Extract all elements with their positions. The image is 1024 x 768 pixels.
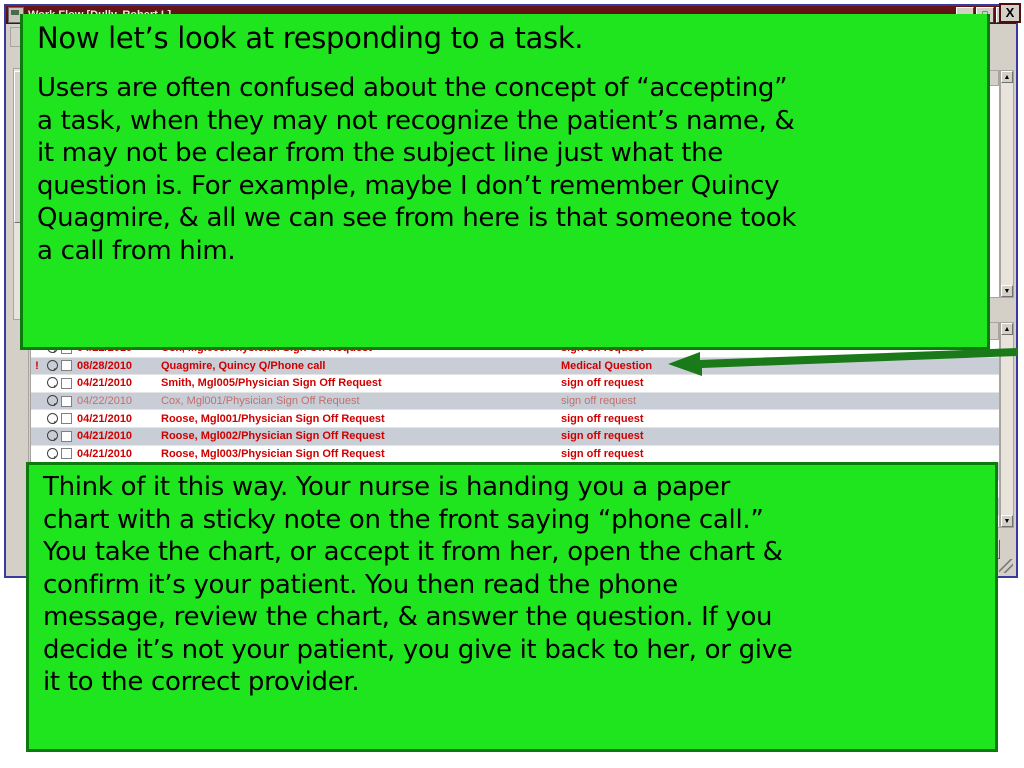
task-scroll-up-arrow-icon[interactable]: ▲	[1001, 323, 1013, 335]
task-subject: Roose, Mgl001/Physician Sign Off Request	[161, 413, 561, 425]
task-description: sign off request	[561, 377, 999, 389]
annotation-box-top: Now let’s look at responding to a task. …	[20, 14, 990, 350]
annotation-bottom-line-1: Think of it this way. Your nurse is hand…	[43, 471, 981, 504]
window-resize-grip[interactable]	[999, 559, 1013, 573]
annotation-top-line-5: Quagmire, & all we can see from here is …	[37, 202, 973, 235]
annotation-top-line-3: it may not be clear from the subject lin…	[37, 137, 973, 170]
row-checkbox[interactable]	[61, 448, 77, 459]
pointer-arrow	[660, 344, 1020, 378]
pending-clock-icon	[43, 430, 61, 442]
table-row[interactable]: 04/21/2010 Roose, Mgl002/Physician Sign …	[31, 428, 999, 446]
annotation-bottom-line-6: decide it’s not your patient, you give i…	[43, 634, 981, 667]
annotation-gap	[37, 56, 973, 72]
annotation-top-line-1: Users are often confused about the conce…	[37, 72, 973, 105]
annotation-bottom-line-3: You take the chart, or accept it from he…	[43, 536, 981, 569]
annotation-top-line-6: a call from him.	[37, 235, 973, 268]
annotation-box-bottom: Think of it this way. Your nurse is hand…	[26, 462, 998, 752]
screen-root: Work Flow [Dully, Robert L] _ □ X Appoin…	[0, 0, 1024, 768]
annotation-bottom-line-7: it to the correct provider.	[43, 666, 981, 699]
table-row[interactable]: 04/22/2010 Cox, Mgl001/Physician Sign Of…	[31, 393, 999, 411]
appointments-vertical-scrollbar[interactable]: ▲ ▼	[1000, 70, 1014, 298]
task-scroll-down-arrow-icon[interactable]: ▼	[1001, 515, 1013, 527]
priority-flag: !	[31, 360, 43, 372]
task-subject: Smith, Mgl005/Physician Sign Off Request	[161, 377, 561, 389]
task-subject: Cox, Mgl001/Physician Sign Off Request	[161, 395, 561, 407]
annotation-top-line-2: a task, when they may not recognize the …	[37, 105, 973, 138]
row-checkbox[interactable]	[61, 431, 77, 442]
task-date: 04/21/2010	[77, 413, 161, 425]
task-description: sign off request	[561, 448, 999, 460]
table-row[interactable]: 04/21/2010 Roose, Mgl003/Physician Sign …	[31, 446, 999, 464]
pointer-arrow-icon	[660, 344, 1020, 378]
annotation-heading: Now let’s look at responding to a task.	[37, 20, 973, 56]
row-checkbox[interactable]	[61, 396, 77, 407]
task-date: 08/28/2010	[77, 360, 161, 372]
pending-clock-icon	[43, 448, 61, 460]
task-date: 04/21/2010	[77, 377, 161, 389]
task-description: sign off request	[561, 395, 999, 407]
task-date: 04/22/2010	[77, 395, 161, 407]
slideshow-close-button[interactable]: X	[999, 3, 1021, 23]
scroll-up-arrow-icon[interactable]: ▲	[1001, 71, 1013, 83]
task-subject: Roose, Mgl003/Physician Sign Off Request	[161, 448, 561, 460]
annotation-top-line-4: question is. For example, maybe I don’t …	[37, 170, 973, 203]
table-row[interactable]: 04/21/2010 Roose, Mgl001/Physician Sign …	[31, 410, 999, 428]
annotation-bottom-line-4: confirm it’s your patient. You then read…	[43, 569, 981, 602]
row-checkbox[interactable]	[61, 413, 77, 424]
pending-clock-icon	[43, 395, 61, 407]
task-description: sign off request	[561, 413, 999, 425]
pending-clock-icon	[43, 413, 61, 425]
task-date: 04/21/2010	[77, 448, 161, 460]
scroll-down-arrow-icon[interactable]: ▼	[1001, 285, 1013, 297]
task-subject: Roose, Mgl002/Physician Sign Off Request	[161, 430, 561, 442]
row-checkbox[interactable]	[61, 360, 77, 371]
annotation-bottom-line-2: chart with a sticky note on the front sa…	[43, 504, 981, 537]
task-description: sign off request	[561, 430, 999, 442]
task-subject: Quagmire, Quincy Q/Phone call	[161, 360, 561, 372]
task-date: 04/21/2010	[77, 430, 161, 442]
annotation-bottom-line-5: message, review the chart, & answer the …	[43, 601, 981, 634]
pending-clock-icon	[43, 360, 61, 372]
row-checkbox[interactable]	[61, 378, 77, 389]
pending-clock-icon	[43, 377, 61, 389]
